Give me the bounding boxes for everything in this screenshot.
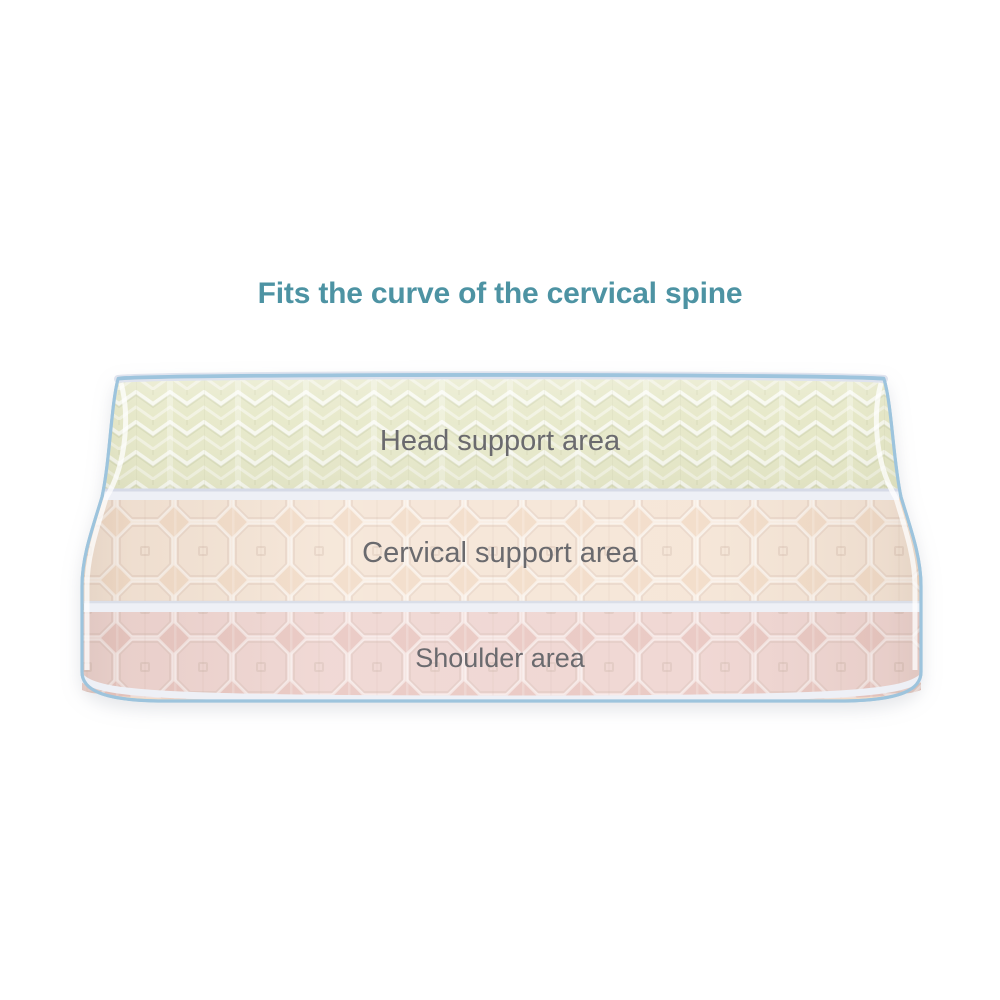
illustration-canvas: Fits the curve of the cervical spine (0, 0, 1000, 1000)
zone-head-support (60, 365, 950, 505)
pillow-illustration (0, 0, 1000, 1000)
zone-shoulder (60, 610, 950, 705)
